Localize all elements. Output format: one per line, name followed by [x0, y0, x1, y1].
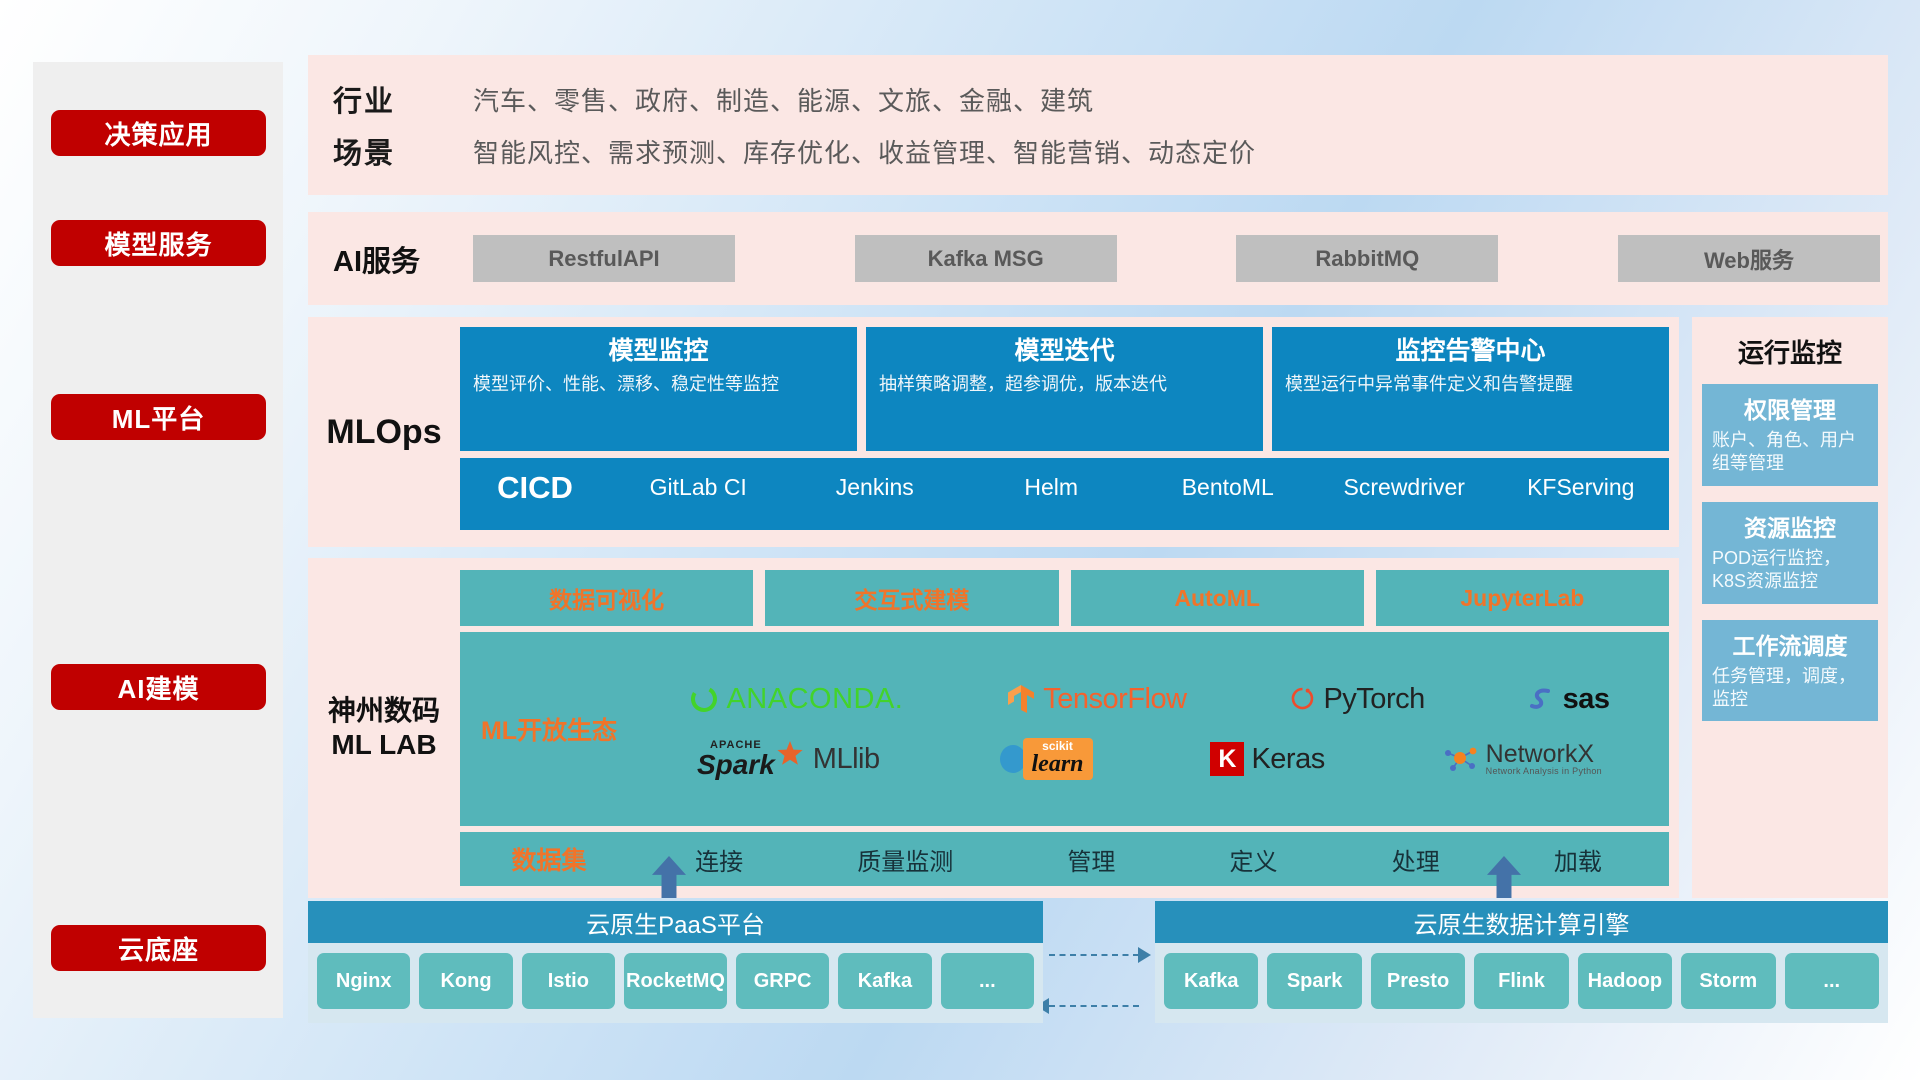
mlops-body: 模型监控 模型评价、性能、漂移、稳定性等监控 模型迭代 抽样策略调整，超参调优，… — [460, 317, 1679, 547]
scikit-learn-logo: scikit learn — [998, 738, 1093, 780]
scenario-key: 场景 — [333, 130, 473, 172]
ai-service-item-kafka-msg[interactable]: Kafka MSG — [855, 235, 1117, 282]
cloud-data-engine-chip-list: Kafka Spark Presto Flink Hadoop Storm ..… — [1155, 943, 1888, 1023]
keras-icon: K — [1210, 742, 1244, 776]
ai-service-item-rabbitmq[interactable]: RabbitMQ — [1236, 235, 1498, 282]
networkx-label: NetworkX — [1486, 742, 1602, 767]
cloud-chip-spark[interactable]: Spark — [1267, 953, 1361, 1009]
rail-chip-cloud-base[interactable]: 云底座 — [51, 925, 266, 971]
cloud-chip-kong[interactable]: Kong — [419, 953, 512, 1009]
networkx-icon — [1443, 744, 1479, 774]
dataset-item-quality-monitor[interactable]: 质量监测 — [857, 842, 953, 877]
mlops-card-title: 监控告警中心 — [1285, 336, 1656, 367]
cicd-bar: CICD GitLab CI Jenkins Helm BentoML Scre… — [460, 458, 1669, 530]
tool-chip-jupyterlab[interactable]: JupyterLab — [1376, 570, 1669, 626]
ml-lab-body: 数据可视化 交互式建模 AutoML JupyterLab ML开放生态 ANA… — [460, 558, 1679, 898]
cloud-data-engine-group: 云原生数据计算引擎 Kafka Spark Presto Flink Hadoo… — [1155, 901, 1888, 1023]
rail-chip-label: 模型服务 — [104, 225, 212, 262]
rail-chip-label: AI建模 — [117, 669, 199, 706]
tool-chip-automl[interactable]: AutoML — [1071, 570, 1364, 626]
pytorch-icon — [1289, 684, 1316, 714]
dataset-item-manage[interactable]: 管理 — [1067, 842, 1115, 877]
rail-chip-model-service[interactable]: 模型服务 — [51, 220, 266, 266]
sas-label: sas — [1563, 683, 1610, 716]
monitor-card-resource[interactable]: 资源监控 POD运行监控，K8S资源监控 — [1702, 502, 1878, 604]
learn-label: learn — [1032, 752, 1084, 776]
industry-value: 汽车、零售、政府、制造、能源、文旅、金融、建筑 — [473, 81, 1094, 118]
rail-chip-label: 决策应用 — [104, 115, 212, 152]
cloud-chip-istio[interactable]: Istio — [522, 953, 615, 1009]
dataset-item-process[interactable]: 处理 — [1392, 842, 1440, 877]
monitor-card-title: 资源监控 — [1712, 509, 1868, 543]
cloud-chip-presto[interactable]: Presto — [1371, 953, 1465, 1009]
cloud-chip-kafka[interactable]: Kafka — [838, 953, 931, 1009]
mlops-card-list: 模型监控 模型评价、性能、漂移、稳定性等监控 模型迭代 抽样策略调整，超参调优，… — [460, 327, 1669, 451]
runtime-monitor-title: 运行监控 — [1702, 333, 1878, 370]
tool-chip-data-visualization[interactable]: 数据可视化 — [460, 570, 753, 626]
mlops-band: MLOps 模型监控 模型评价、性能、漂移、稳定性等监控 模型迭代 抽样策略调整… — [308, 317, 1679, 547]
mlops-card-desc: 抽样策略调整，超参调优，版本迭代 — [879, 372, 1250, 396]
ai-modeling-band: 神州数码 ML LAB 数据可视化 交互式建模 AutoML JupyterLa… — [308, 558, 1679, 898]
spark-star-icon — [776, 740, 804, 768]
monitor-card-permission[interactable]: 权限管理 账户、角色、用户组等管理 — [1702, 384, 1878, 486]
ai-service-key: AI服务 — [333, 238, 473, 280]
dataset-item-define[interactable]: 定义 — [1230, 842, 1278, 877]
mlops-card-alert-center[interactable]: 监控告警中心 模型运行中异常事件定义和告警提醒 — [1272, 327, 1669, 451]
scenario-row: 场景 智能风控、需求预测、库存优化、收益管理、智能营销、动态定价 — [333, 125, 1888, 177]
cicd-item-bentoml[interactable]: BentoML — [1140, 470, 1317, 500]
ai-service-item-web-service[interactable]: Web服务 — [1618, 235, 1880, 282]
cloud-chip-hadoop[interactable]: Hadoop — [1578, 953, 1672, 1009]
cloud-chip-more[interactable]: ... — [1785, 953, 1879, 1009]
ml-ecosystem-label: ML开放生态 — [460, 711, 638, 747]
tensorflow-logo: TensorFlow — [1006, 683, 1186, 716]
anaconda-icon — [689, 684, 719, 714]
cloud-paas-header: 云原生PaaS平台 — [308, 901, 1043, 943]
cloud-paas-chip-list: Nginx Kong Istio RocketMQ GRPC Kafka ... — [308, 943, 1043, 1023]
tensorflow-label: TensorFlow — [1043, 683, 1186, 716]
architecture-main: 行业 汽车、零售、政府、制造、能源、文旅、金融、建筑 场景 智能风控、需求预测、… — [308, 55, 1888, 1025]
cloud-data-engine-header: 云原生数据计算引擎 — [1155, 901, 1888, 943]
ml-lab-key: 神州数码 ML LAB — [308, 558, 460, 898]
spark-mllib-logo: APACHE Spark MLlib — [697, 740, 880, 779]
dataset-item-connect[interactable]: 连接 — [695, 842, 743, 877]
keras-label: Keras — [1251, 743, 1324, 776]
mlops-key: MLOps — [308, 317, 460, 547]
mlops-card-title: 模型监控 — [473, 336, 844, 367]
cicd-item-gitlab-ci[interactable]: GitLab CI — [610, 470, 787, 500]
decision-app-band: 行业 汽车、零售、政府、制造、能源、文旅、金融、建筑 场景 智能风控、需求预测、… — [308, 55, 1888, 195]
cicd-item-kfserving[interactable]: KFServing — [1493, 470, 1670, 500]
industry-key: 行业 — [333, 78, 473, 120]
ml-ecosystem-logo-row-2: APACHE Spark MLlib — [638, 731, 1661, 787]
cicd-title: CICD — [460, 470, 610, 506]
dataset-row: 数据集 连接 质量监测 管理 定义 处理 加载 — [460, 832, 1669, 886]
ml-lab-key-line2: ML LAB — [331, 728, 436, 762]
mlops-card-desc: 模型运行中异常事件定义和告警提醒 — [1285, 372, 1656, 396]
rail-chip-label: 云底座 — [118, 930, 199, 967]
cloud-paas-group: 云原生PaaS平台 Nginx Kong Istio RocketMQ GRPC… — [308, 901, 1043, 1023]
tensorflow-icon — [1006, 683, 1036, 715]
scenario-value: 智能风控、需求预测、库存优化、收益管理、智能营销、动态定价 — [473, 133, 1256, 170]
networkx-sub-label: Network Analysis in Python — [1486, 767, 1602, 776]
anaconda-label: ANACONDA. — [726, 683, 903, 716]
cloud-chip-more[interactable]: ... — [941, 953, 1034, 1009]
monitor-card-title: 工作流调度 — [1712, 627, 1868, 661]
mllib-label: MLlib — [813, 743, 880, 776]
monitor-card-desc: 任务管理，调度，监控 — [1712, 665, 1868, 712]
dashed-connector-left-icon — [1049, 1005, 1139, 1007]
mlops-card-desc: 模型评价、性能、漂移、稳定性等监控 — [473, 372, 844, 396]
dashed-arrowhead-right-icon — [1138, 947, 1151, 963]
monitor-card-workflow[interactable]: 工作流调度 任务管理，调度，监控 — [1702, 620, 1878, 722]
rail-chip-ai-modeling[interactable]: AI建模 — [51, 664, 266, 710]
mlops-card-model-iteration[interactable]: 模型迭代 抽样策略调整，超参调优，版本迭代 — [866, 327, 1263, 451]
dataset-label: 数据集 — [460, 841, 638, 877]
ai-service-item-restfulapi[interactable]: RestfulAPI — [473, 235, 735, 282]
ai-service-band: AI服务 RestfulAPI Kafka MSG RabbitMQ Web服务 — [308, 212, 1888, 305]
mlops-card-title: 模型迭代 — [879, 336, 1250, 367]
pytorch-logo: PyTorch — [1289, 683, 1424, 716]
left-rail: 决策应用 模型服务 ML平台 AI建模 云底座 — [33, 62, 283, 1018]
runtime-monitor-band: 运行监控 权限管理 账户、角色、用户组等管理 资源监控 POD运行监控，K8S资… — [1692, 317, 1888, 898]
rail-chip-label: ML平台 — [112, 399, 206, 436]
ml-lab-tool-row: 数据可视化 交互式建模 AutoML JupyterLab — [460, 570, 1669, 626]
dataset-item-load[interactable]: 加载 — [1554, 842, 1602, 877]
rail-chip-ml-platform[interactable]: ML平台 — [51, 394, 266, 440]
ml-ecosystem-row: ML开放生态 ANACONDA. — [460, 632, 1669, 826]
keras-logo: K Keras — [1210, 742, 1324, 776]
decision-app-rows: 行业 汽车、零售、政府、制造、能源、文旅、金融、建筑 场景 智能风控、需求预测、… — [308, 73, 1888, 177]
cloud-chip-flink[interactable]: Flink — [1474, 953, 1568, 1009]
monitor-card-desc: POD运行监控，K8S资源监控 — [1712, 547, 1868, 594]
cicd-item-jenkins[interactable]: Jenkins — [787, 470, 964, 500]
monitor-card-title: 权限管理 — [1712, 391, 1868, 425]
cicd-item-screwdriver[interactable]: Screwdriver — [1316, 470, 1493, 500]
anaconda-logo: ANACONDA. — [689, 683, 903, 716]
spark-label: Spark — [697, 751, 775, 779]
pytorch-label: PyTorch — [1323, 683, 1424, 716]
rail-chip-decision-app[interactable]: 决策应用 — [51, 110, 266, 156]
sas-logo: sas — [1528, 683, 1610, 716]
sas-icon — [1528, 685, 1556, 713]
cloud-chip-rocketmq[interactable]: RocketMQ — [624, 953, 727, 1009]
cloud-chip-kafka[interactable]: Kafka — [1164, 953, 1258, 1009]
dashed-connector-right-icon — [1049, 954, 1139, 956]
ai-service-list: RestfulAPI Kafka MSG RabbitMQ Web服务 — [473, 235, 1888, 282]
monitor-card-desc: 账户、角色、用户组等管理 — [1712, 429, 1868, 476]
cloud-chip-storm[interactable]: Storm — [1681, 953, 1775, 1009]
tool-chip-interactive-modeling[interactable]: 交互式建模 — [765, 570, 1058, 626]
industry-row: 行业 汽车、零售、政府、制造、能源、文旅、金融、建筑 — [333, 73, 1888, 125]
cicd-item-helm[interactable]: Helm — [963, 470, 1140, 500]
ml-ecosystem-logos: ANACONDA. TensorFlow — [638, 671, 1669, 787]
ml-ecosystem-logo-row-1: ANACONDA. TensorFlow — [638, 671, 1661, 727]
ml-lab-key-line1: 神州数码 — [328, 694, 440, 728]
networkx-logo: NetworkX Network Analysis in Python — [1443, 742, 1602, 776]
cloud-chip-grpc[interactable]: GRPC — [736, 953, 829, 1009]
cloud-chip-nginx[interactable]: Nginx — [317, 953, 410, 1009]
mlops-card-model-monitoring[interactable]: 模型监控 模型评价、性能、漂移、稳定性等监控 — [460, 327, 857, 451]
